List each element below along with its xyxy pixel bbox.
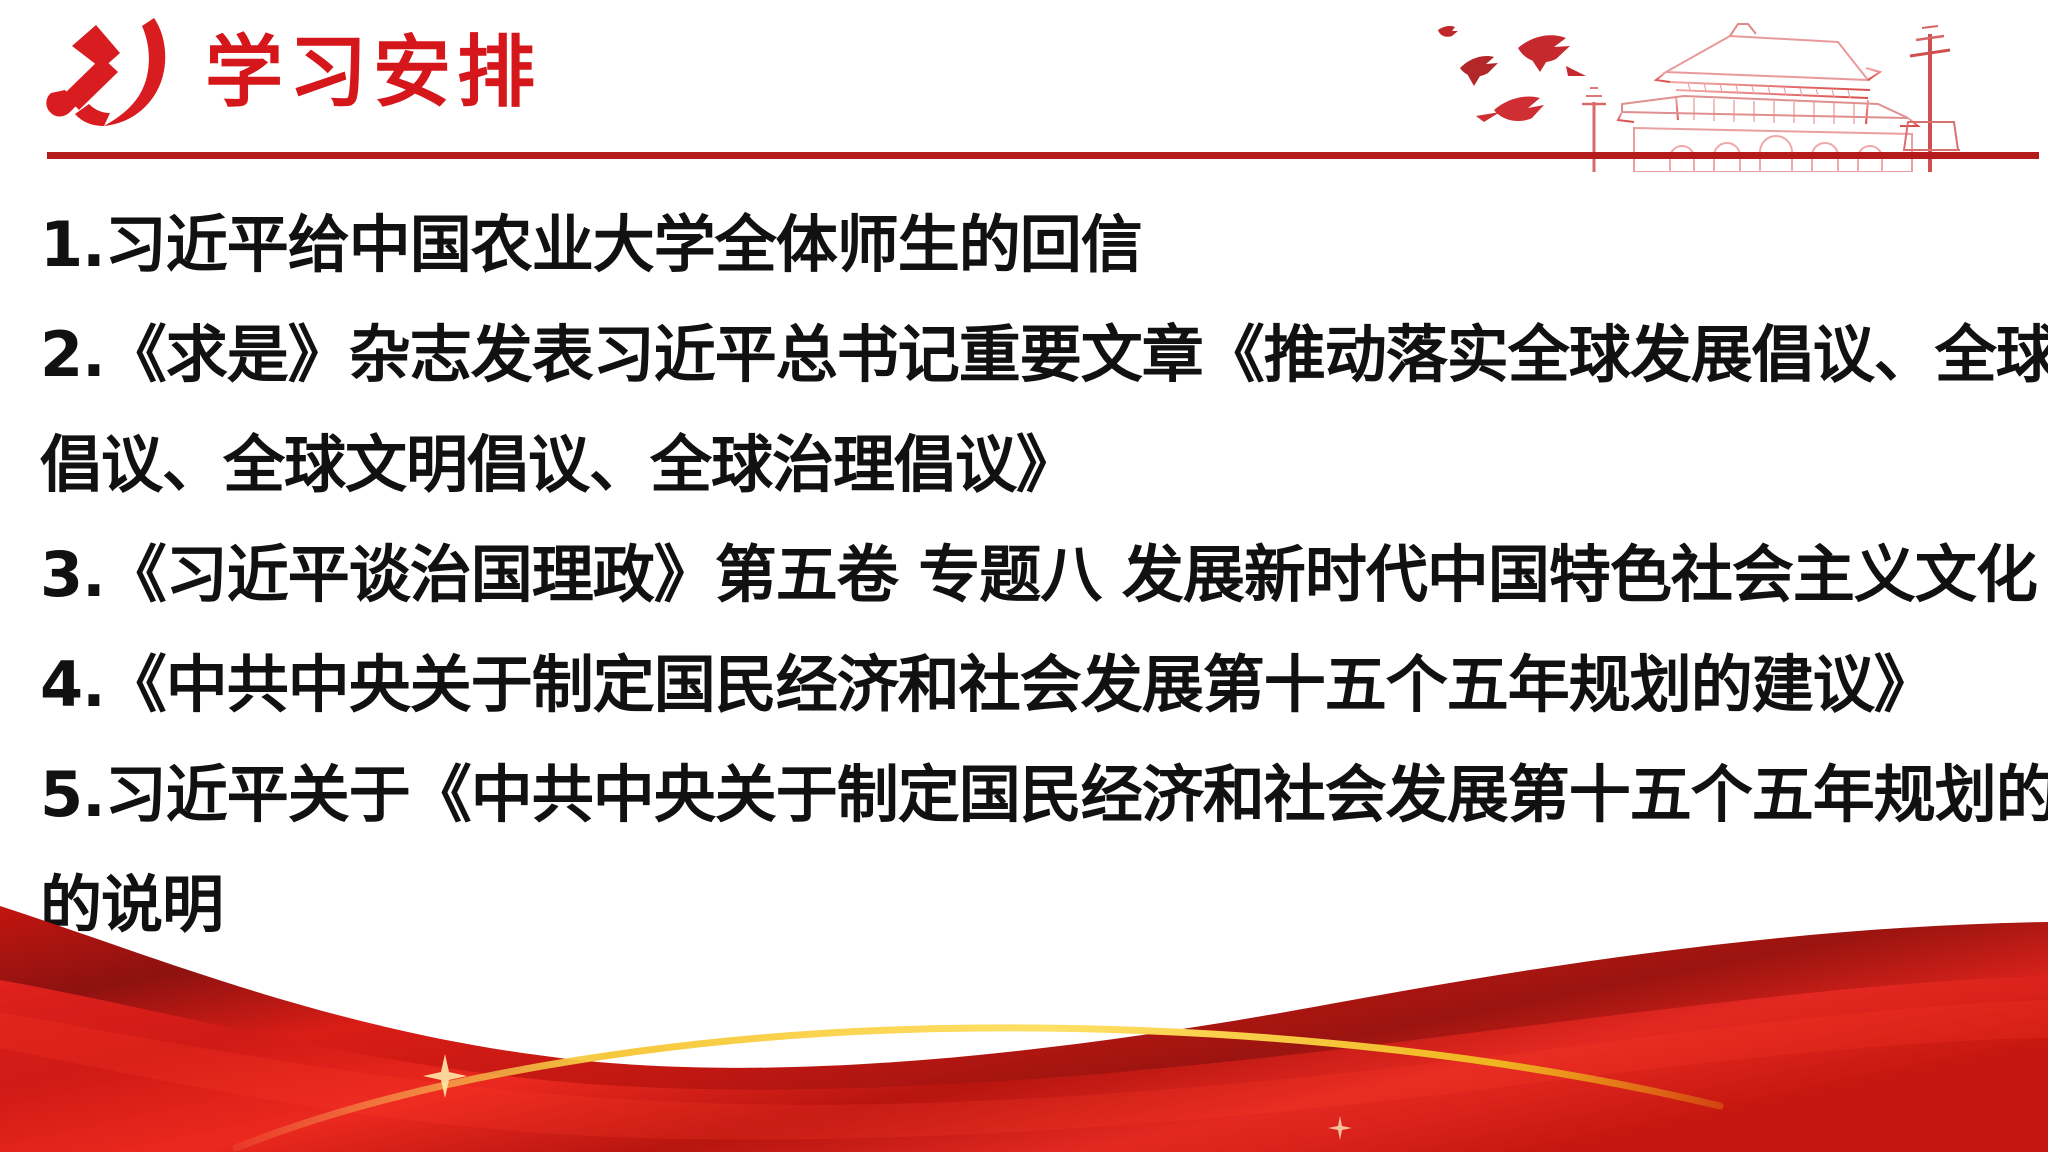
cpc-hammer-sickle-emblem	[42, 12, 182, 134]
dove-icon	[1518, 35, 1586, 76]
list-item: 2.《求是》杂志发表习近平总书记重要文章《推动落实全球发展倡议、全球安全	[40, 300, 2048, 410]
tiananmen-gate-doves-illustration	[1408, 0, 2048, 172]
slide-header: 学习安排	[0, 0, 2048, 180]
list-item: 1.习近平给中国农业大学全体师生的回信	[40, 190, 2048, 300]
dove-icon	[1476, 97, 1544, 123]
list-item: 5.习近平关于《中共中央关于制定国民经济和社会发展第十五个五年规划的建议》	[40, 740, 2048, 850]
slide-root: 学习安排	[0, 0, 2048, 1152]
bottom-ribbon-decoration	[0, 862, 2048, 1152]
header-divider	[47, 152, 2039, 159]
list-item: 4.《中共中央关于制定国民经济和社会发展第十五个五年规划的建议》	[40, 630, 2048, 740]
page-title: 学习安排	[205, 28, 541, 118]
list-item: 3.《习近平谈治国理政》第五卷 专题八 发展新时代中国特色社会主义文化	[40, 520, 2048, 630]
list-item-continuation: 倡议、全球文明倡议、全球治理倡议》	[40, 410, 2048, 520]
dove-icon	[1438, 26, 1458, 37]
study-schedule-list: 1.习近平给中国农业大学全体师生的回信 2.《求是》杂志发表习近平总书记重要文章…	[40, 190, 2048, 960]
dove-icon	[1460, 56, 1498, 86]
